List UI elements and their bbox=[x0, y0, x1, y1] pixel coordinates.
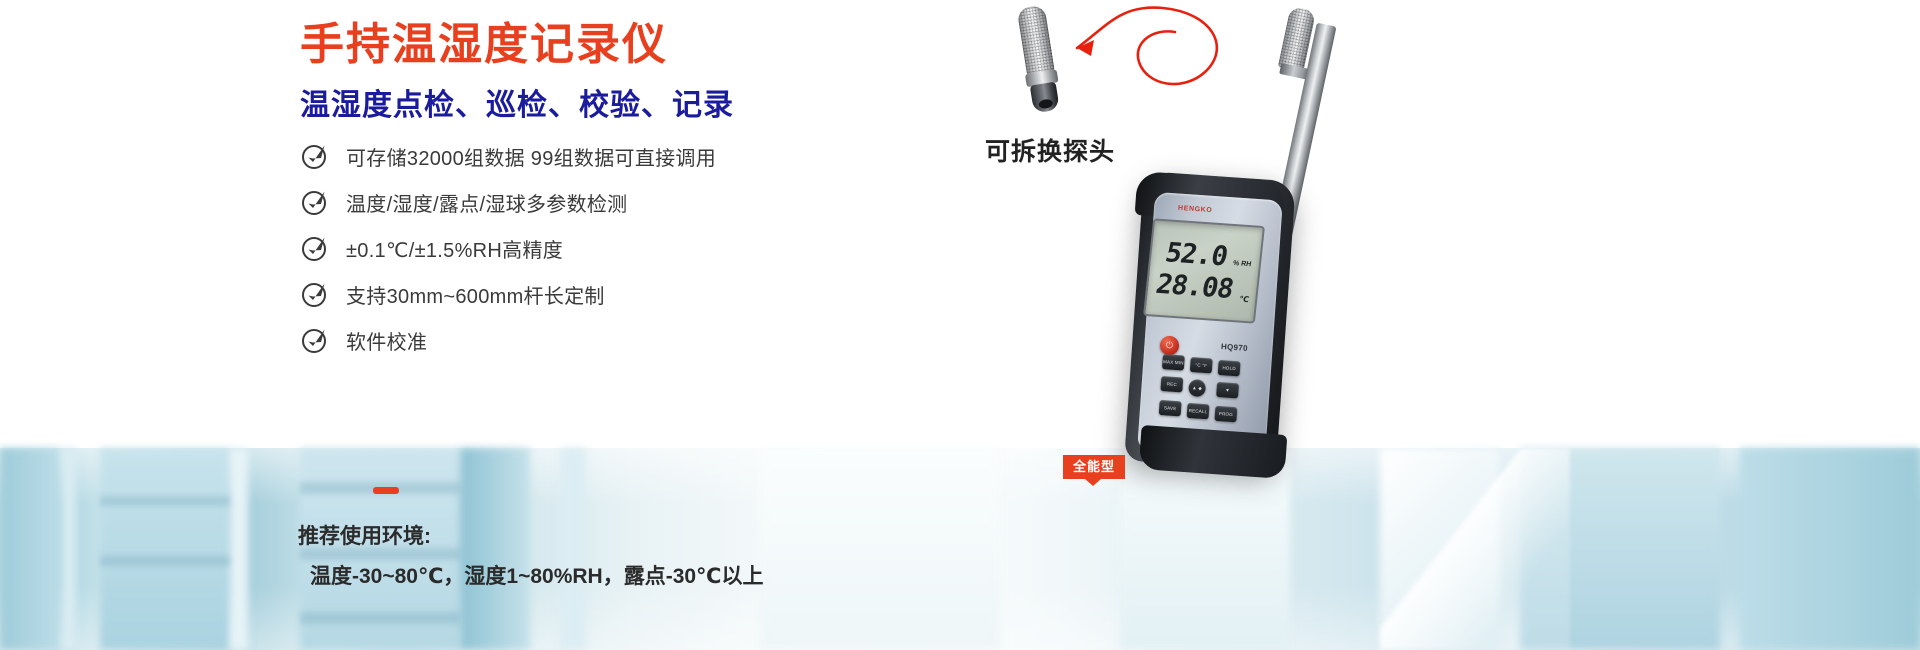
check-circle-icon bbox=[300, 187, 334, 217]
probe-callout-label: 可拆换探头 bbox=[985, 132, 1115, 168]
background-shelf-block bbox=[62, 448, 76, 650]
key-button[interactable]: ▲ ◆ bbox=[1188, 379, 1206, 397]
humidity-unit: % RH bbox=[1232, 260, 1252, 268]
list-item: 软件校准 bbox=[300, 317, 920, 363]
background-shelf-block bbox=[0, 448, 60, 650]
list-item: ±0.1℃/±1.5%RH高精度 bbox=[300, 225, 920, 271]
background-shelf-block bbox=[230, 448, 248, 650]
list-item: 温度/湿度/露点/湿球多参数检测 bbox=[300, 179, 920, 225]
page-subtitle: 温湿度点检、巡检、校验、记录 bbox=[300, 80, 734, 124]
check-circle-icon bbox=[300, 325, 334, 355]
model-label: HQ970 bbox=[1221, 342, 1248, 353]
divider-dash bbox=[373, 487, 399, 494]
temperature-reading: 28.08 bbox=[1153, 269, 1236, 305]
check-circle-icon bbox=[300, 141, 334, 171]
check-circle-icon bbox=[300, 279, 334, 309]
curved-arrow-icon bbox=[1055, 0, 1265, 105]
page-title: 手持温湿度记录仪 bbox=[300, 8, 668, 72]
key-button[interactable]: PROG bbox=[1214, 406, 1237, 422]
product-banner: 手持温湿度记录仪 温湿度点检、巡检、校验、记录 可存储32000组数据 99组数… bbox=[0, 0, 1920, 650]
list-item-label: 软件校准 bbox=[346, 326, 427, 355]
humidity-reading: 52.0 bbox=[1162, 237, 1229, 272]
background-shelf-block bbox=[1740, 448, 1920, 650]
key-button[interactable]: RECALL bbox=[1187, 403, 1210, 419]
list-item-label: ±0.1℃/±1.5%RH高精度 bbox=[346, 234, 563, 263]
lcd-display: 52.0 % RH 28.08 ℃ bbox=[1143, 218, 1265, 323]
background-shelf-bar bbox=[100, 496, 230, 506]
key-button[interactable]: °C °F bbox=[1190, 357, 1213, 373]
list-item: 可存储32000组数据 99组数据可直接调用 bbox=[300, 133, 920, 179]
list-item-label: 支持30mm~600mm杆长定制 bbox=[346, 280, 605, 309]
environment-value: 温度-30~80℃，湿度1~80%RH，露点-30℃以上 bbox=[310, 560, 764, 590]
background-shelf-block bbox=[460, 448, 530, 650]
temperature-unit: ℃ bbox=[1238, 295, 1250, 305]
background-top-white bbox=[0, 0, 1920, 448]
background-shelf-block bbox=[100, 448, 230, 650]
key-button[interactable]: MAX MIN bbox=[1162, 354, 1185, 370]
check-circle-icon bbox=[300, 233, 334, 263]
key-button[interactable]: HOLD bbox=[1218, 360, 1241, 376]
environment-label: 推荐使用环境: bbox=[298, 520, 431, 550]
key-button[interactable]: ▼ bbox=[1216, 382, 1239, 398]
background-shelf-block bbox=[1120, 448, 1290, 650]
status-badge: 全能型 bbox=[1063, 455, 1125, 479]
background-shelf-bar bbox=[100, 556, 230, 566]
list-item-label: 可存储32000组数据 99组数据可直接调用 bbox=[346, 142, 716, 171]
key-button[interactable]: REC bbox=[1160, 376, 1183, 392]
background-shelf-block bbox=[760, 448, 1000, 650]
background-panel-highlight bbox=[1380, 448, 1570, 650]
feature-list: 可存储32000组数据 99组数据可直接调用 温度/湿度/露点/湿球多参数检测 … bbox=[300, 133, 920, 363]
list-item-label: 温度/湿度/露点/湿球多参数检测 bbox=[346, 188, 627, 217]
key-button[interactable]: SAVE bbox=[1159, 400, 1182, 416]
list-item: 支持30mm~600mm杆长定制 bbox=[300, 271, 920, 317]
probe-mesh-filter bbox=[1017, 4, 1055, 76]
background-shelf-bar bbox=[300, 612, 460, 624]
background-shelf-block bbox=[560, 448, 586, 650]
